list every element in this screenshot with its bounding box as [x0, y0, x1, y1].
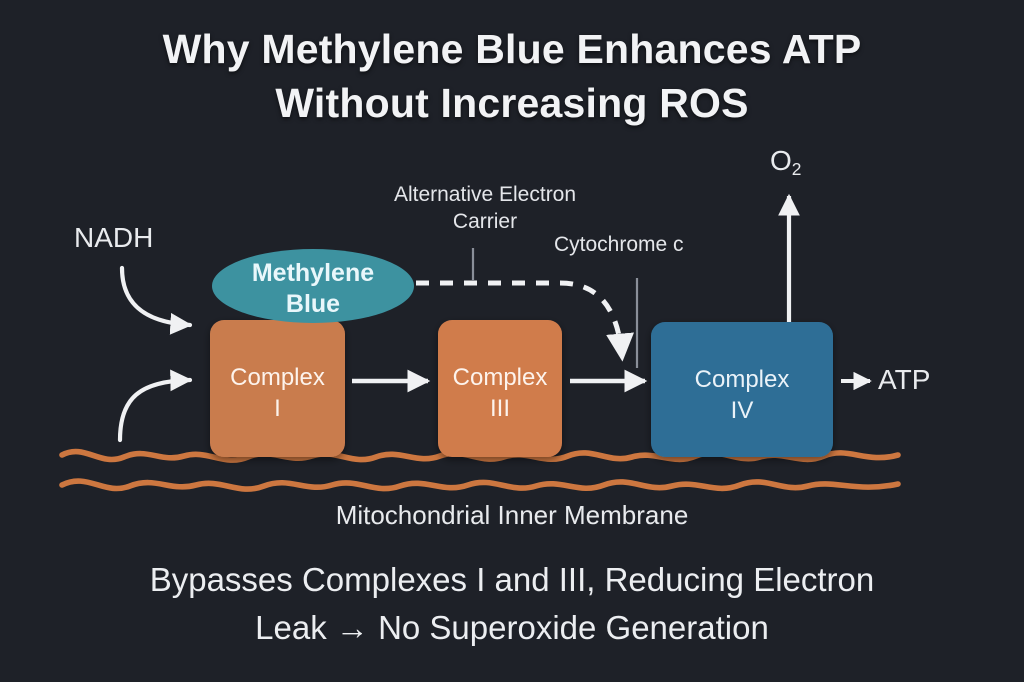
complex-iv-box[interactable]	[651, 322, 833, 457]
oxygen-symbol: O	[770, 145, 792, 176]
atp-label: ATP	[878, 364, 930, 396]
cytochrome-c-label: Cytochrome c	[554, 231, 684, 258]
diagram-canvas: Why Methylene Blue Enhances ATP Without …	[0, 0, 1024, 682]
substrate-arrow-lower	[120, 380, 190, 440]
footer-line-2: Leak → No Superoxide Generation	[0, 604, 1024, 652]
oxygen-label: O2	[770, 145, 801, 180]
alternative-carrier-annotation: Alternative Electron Carrier	[360, 181, 610, 236]
complex-i-box[interactable]	[210, 320, 345, 457]
membrane-wave-lower	[62, 481, 898, 489]
mitochondrial-membrane	[62, 452, 898, 490]
membrane-caption: Mitochondrial Inner Membrane	[0, 500, 1024, 531]
oxygen-subscript: 2	[792, 159, 802, 179]
methylene-blue-ellipse[interactable]	[212, 249, 414, 323]
nadh-label: NADH	[74, 222, 153, 254]
footer-line-1: Bypasses Complexes I and III, Reducing E…	[150, 561, 875, 598]
complex-iii-box[interactable]	[438, 320, 562, 457]
footer-caption: Bypasses Complexes I and III, Reducing E…	[0, 556, 1024, 652]
nadh-arrow-upper	[122, 268, 190, 325]
nadh-input-arrows	[120, 268, 190, 440]
alternative-carrier-line-1: Alternative Electron	[394, 183, 576, 206]
